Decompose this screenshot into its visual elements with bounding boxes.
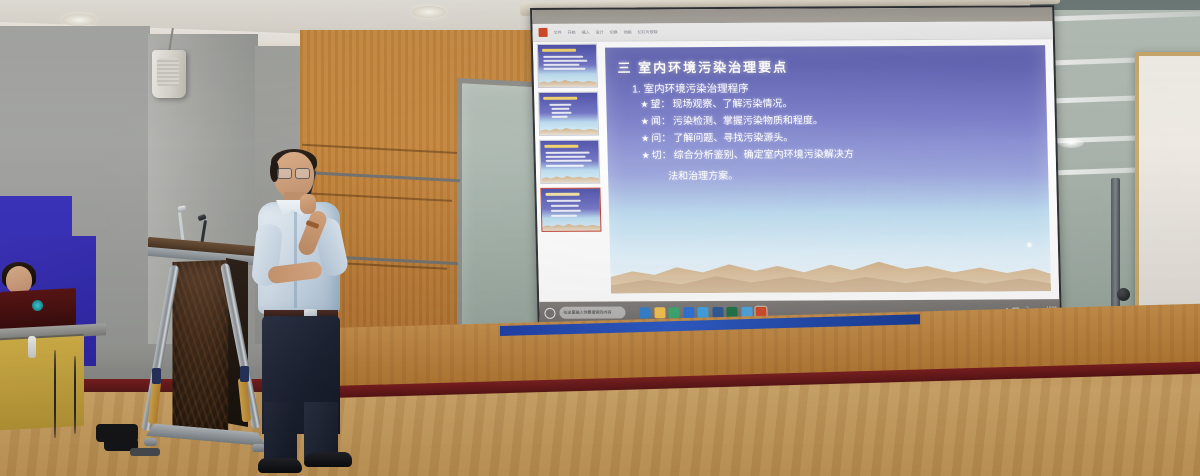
- ribbon-tab-4[interactable]: 切换: [610, 29, 618, 35]
- ribbon-tab-1[interactable]: 开始: [568, 29, 576, 35]
- projected-desktop: 文件 开始 插入 设计 切换 动画 幻灯片放映: [532, 21, 1059, 324]
- ribbon-tab-2[interactable]: 插入: [582, 29, 590, 35]
- start-button-icon[interactable]: [544, 307, 555, 318]
- mail-icon[interactable]: [683, 307, 694, 318]
- slide-thumb-4[interactable]: [540, 188, 601, 232]
- edge-icon[interactable]: [639, 307, 650, 318]
- lecture-hall-photo: 文件 开始 插入 设计 切换 动画 幻灯片放映: [0, 0, 1200, 476]
- slide-bullet-1: ★ 闻： 污染检测、掌握污染物质和程度。: [641, 114, 1035, 128]
- bullet-text: 现场观察、了解污染情况。: [672, 99, 792, 111]
- shirt-placket: [294, 212, 297, 308]
- slide-title: 三 室内环境污染治理要点: [617, 55, 1036, 76]
- bullet-text: 污染检测、掌握污染物质和程度。: [673, 115, 823, 127]
- word-icon[interactable]: [712, 306, 723, 317]
- whiteboard: [1135, 52, 1200, 325]
- power-adapter: [28, 336, 36, 358]
- powerpoint-logo-icon: [538, 28, 547, 37]
- bullet-label: 闻：: [651, 116, 671, 128]
- lectern-foot: [144, 438, 157, 446]
- star-icon: ★: [640, 99, 648, 110]
- bullet-text: 了解问题、寻找污染源头。: [673, 133, 793, 145]
- star-icon: ★: [641, 116, 649, 127]
- slide-thumb-2[interactable]: [538, 92, 599, 136]
- projector-screen: 文件 开始 插入 设计 切换 动画 幻灯片放映: [530, 5, 1063, 362]
- sun-icon: [1027, 242, 1032, 247]
- slide-bullet-list: ★ 望： 现场观察、了解污染情况。 ★ 闻： 污染检测、掌握污染物质和程度。 ★…: [640, 97, 1036, 182]
- bullet-label: 切：: [652, 150, 672, 162]
- cable: [54, 350, 56, 438]
- lectern-leg-band: [152, 368, 161, 384]
- browser-icon[interactable]: [697, 307, 708, 318]
- ribbon-tab-0[interactable]: 文件: [554, 29, 562, 35]
- lectern-front-panel: [172, 260, 228, 432]
- presenter-hand: [300, 194, 316, 214]
- presenter-shoe-left: [258, 458, 302, 473]
- laptop-logo-icon: [32, 300, 43, 311]
- presenter: [246, 152, 366, 476]
- ribbon-tab-5[interactable]: 动画: [624, 29, 632, 35]
- slide-bullet-2: ★ 问： 了解问题、寻找污染源头。: [641, 131, 1035, 145]
- powerpoint-ribbon[interactable]: 文件 开始 插入 设计 切换 动画 幻灯片放映: [532, 21, 1059, 42]
- bullet-text: 综合分析鉴别、确定室内环境污染解决方: [674, 149, 854, 161]
- ribbon-tab-3[interactable]: 设计: [596, 29, 604, 35]
- slide-bullet-3: ★ 切： 综合分析鉴别、确定室内环境污染解决方: [642, 148, 1036, 162]
- explorer-icon[interactable]: [654, 307, 665, 318]
- bullet-label: 望：: [650, 99, 670, 111]
- store-icon[interactable]: [668, 307, 679, 318]
- presenter-shoe-right: [304, 452, 352, 467]
- slide-subtitle: 1. 室内环境污染治理程序: [632, 79, 1036, 96]
- bullet-label: 问：: [651, 133, 671, 145]
- cable: [74, 356, 76, 434]
- downlight-icon: [412, 6, 446, 18]
- slide-thumb-3[interactable]: [539, 140, 600, 184]
- ribbon-tab-6[interactable]: 幻灯片放映: [638, 29, 658, 35]
- search-input[interactable]: 在这里输入你要搜索的内容: [559, 306, 625, 318]
- speaker-grille: [157, 58, 179, 86]
- lectern-panel-texture: [172, 260, 228, 432]
- star-icon: ★: [641, 133, 649, 144]
- desk-front-panel: [0, 336, 84, 430]
- star-icon: ★: [642, 150, 650, 161]
- slide-bullet-0: ★ 望： 现场观察、了解污染情况。: [640, 97, 1034, 111]
- glasses-icon: [277, 168, 311, 177]
- slide-thumb-1[interactable]: [537, 44, 598, 88]
- downlight-icon: [62, 14, 96, 26]
- slide-bullet-continuation: 法和治理方案。: [668, 165, 1036, 182]
- whiteboard-adjust-knob[interactable]: [1117, 288, 1130, 301]
- current-slide: 三 室内环境污染治理要点 1. 室内环境污染治理程序 ★ 望： 现场观察、了解污…: [605, 45, 1051, 293]
- slide-thumbnail-rail[interactable]: [537, 44, 605, 298]
- glass-light-glow: [1058, 138, 1084, 148]
